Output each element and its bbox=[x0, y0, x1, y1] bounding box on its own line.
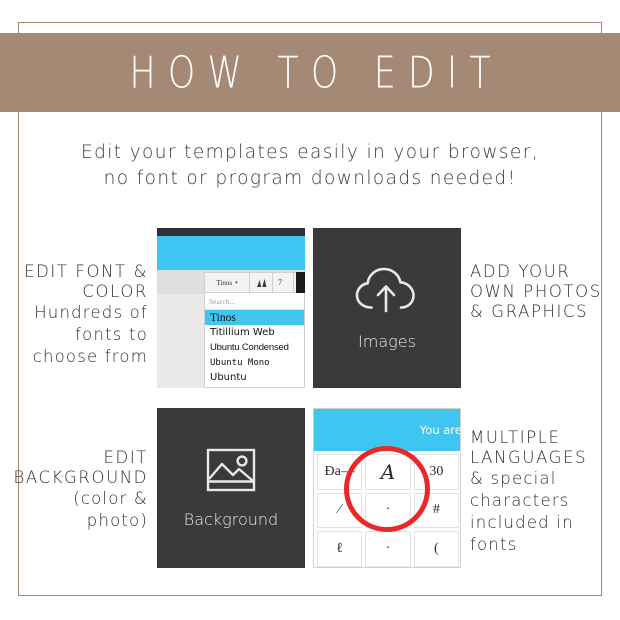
font-toolbar: Tinos ▾ 7 bbox=[204, 272, 305, 293]
caption-font-body-3: choose from bbox=[0, 346, 148, 368]
font-size-icon[interactable] bbox=[250, 273, 273, 292]
caption-bg-heading-1: EDIT bbox=[0, 448, 148, 468]
picture-icon bbox=[206, 448, 256, 497]
font-list-item-tinos[interactable]: Tinos bbox=[205, 310, 304, 325]
subtitle-line-1: Edit your templates easily in your brows… bbox=[0, 140, 620, 166]
font-search-input[interactable]: Search... bbox=[205, 293, 304, 310]
caption-lang-body-4: fonts bbox=[470, 534, 620, 556]
character-map-screenshot: You are in Đа— A 30 ⁄ · # ℓ · ( bbox=[313, 408, 461, 568]
font-list-item-ubuntu-mono[interactable]: Ubuntu Mono bbox=[205, 355, 304, 370]
subtitle-line-2: no font or program downloads needed! bbox=[0, 166, 620, 192]
font-family-value: Tinos bbox=[216, 279, 232, 287]
charmap-cell[interactable]: Đа— bbox=[317, 454, 362, 490]
caption-font-body-1: Hundreds of bbox=[0, 302, 148, 324]
poster-page: HOW TO EDIT Edit your templates easily i… bbox=[0, 0, 620, 620]
charmap-cell[interactable]: ⁄ bbox=[317, 493, 362, 529]
caption-bg-body-1: (color & bbox=[0, 488, 148, 510]
caption-photos-heading-1: ADD YOUR bbox=[470, 262, 620, 282]
caption-lang-body-1: & special bbox=[470, 468, 620, 490]
page-title: HOW TO EDIT bbox=[117, 47, 503, 98]
header-banner: HOW TO EDIT bbox=[0, 33, 620, 112]
caption-photos-heading-3: & GRAPHICS bbox=[470, 302, 620, 322]
charmap-cell[interactable]: ℓ bbox=[317, 531, 362, 567]
caption-edit-font-color: EDIT FONT & COLOR Hundreds of fonts to c… bbox=[0, 262, 148, 368]
editor-blue-band bbox=[157, 236, 305, 270]
caption-add-photos: ADD YOUR OWN PHOTOS & GRAPHICS bbox=[470, 262, 620, 322]
chevron-down-icon: ▾ bbox=[235, 280, 238, 286]
font-list-item-ubuntu[interactable]: Ubuntu bbox=[205, 370, 304, 385]
images-card-label: Images bbox=[358, 332, 416, 351]
charmap-cell[interactable]: 30 bbox=[414, 454, 459, 490]
charmap-cell[interactable]: ( bbox=[414, 531, 459, 567]
font-list-item-titillium[interactable]: Titillium Web bbox=[205, 325, 304, 340]
editor-titlebar bbox=[157, 228, 305, 236]
caption-lang-heading-2: LANGUAGES bbox=[470, 448, 620, 468]
font-size-input[interactable]: 7 bbox=[273, 273, 293, 292]
caption-multiple-languages: MULTIPLE LANGUAGES & special characters … bbox=[470, 428, 620, 556]
font-family-dropdown[interactable]: Tinos ▾ bbox=[205, 273, 250, 292]
caption-lang-heading-1: MULTIPLE bbox=[470, 428, 620, 448]
font-list-dropdown: Search... Tinos Titillium Web Ubuntu Con… bbox=[204, 293, 305, 388]
charmap-cell[interactable]: # bbox=[414, 493, 459, 529]
charmap-cell[interactable]: · bbox=[365, 531, 410, 567]
subtitle: Edit your templates easily in your brows… bbox=[0, 140, 620, 192]
charmap-banner: You are in bbox=[314, 409, 461, 451]
caption-font-heading-1: EDIT FONT & bbox=[0, 262, 148, 282]
images-card[interactable]: Images bbox=[313, 228, 461, 388]
font-list-item-ubuntu-condensed[interactable]: Ubuntu Condensed bbox=[205, 340, 304, 355]
caption-photos-heading-2: OWN PHOTOS bbox=[470, 282, 620, 302]
caption-font-body-2: fonts to bbox=[0, 324, 148, 346]
caption-edit-background: EDIT BACKGROUND (color & photo) bbox=[0, 448, 148, 532]
cloud-upload-icon bbox=[354, 266, 420, 319]
caption-bg-body-2: photo) bbox=[0, 510, 148, 532]
caption-lang-body-3: included in bbox=[470, 512, 620, 534]
background-card-label: Background bbox=[184, 510, 278, 529]
charmap-cell-highlighted[interactable]: A bbox=[365, 454, 410, 490]
charmap-cell[interactable]: · bbox=[365, 493, 410, 529]
caption-font-heading-2: COLOR bbox=[0, 282, 148, 302]
charmap-grid: Đа— A 30 ⁄ · # ℓ · ( bbox=[314, 454, 461, 567]
caption-lang-body-2: characters bbox=[470, 490, 620, 512]
charmap-banner-text: You are in bbox=[420, 423, 461, 437]
editor-scrollbar[interactable] bbox=[296, 272, 305, 293]
background-card[interactable]: Background bbox=[157, 408, 305, 568]
font-editor-screenshot: Tinos ▾ 7 Search... Tinos Titillium Web … bbox=[157, 228, 305, 388]
caption-bg-heading-2: BACKGROUND bbox=[0, 468, 148, 488]
